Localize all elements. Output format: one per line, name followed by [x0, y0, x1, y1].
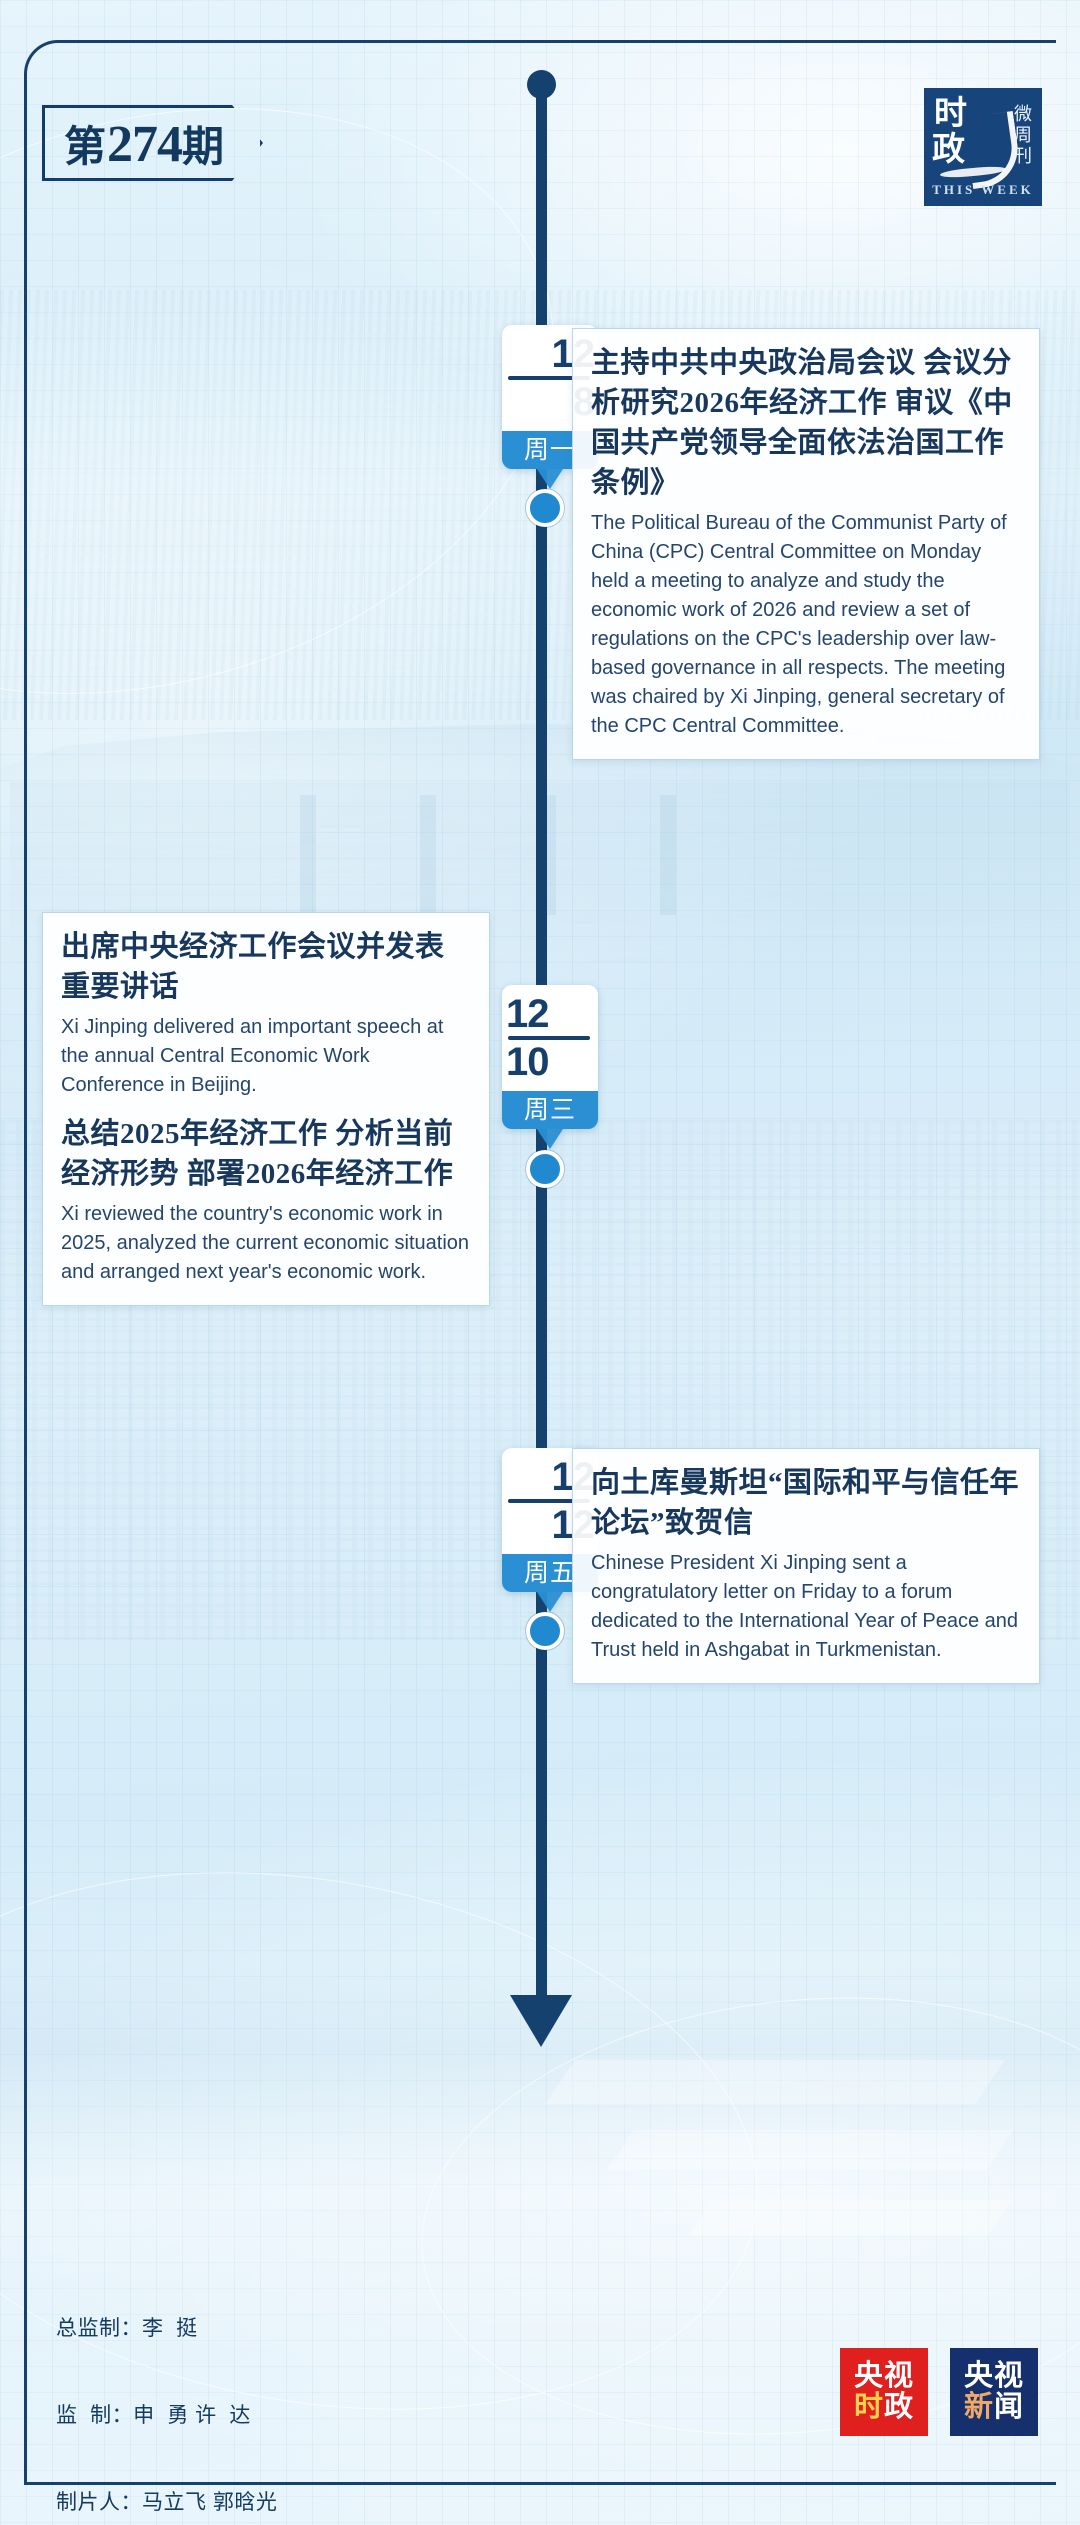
event-card-2-headline-cn-b: 总结2025年经济工作 分析当前经济形势 部署2026年经济工作	[61, 1114, 471, 1194]
date-badge-2-day: 10	[502, 1041, 598, 1083]
date-badge-2-numbers: 12 10	[502, 985, 598, 1091]
cctv-shizheng-line2: 时 政	[854, 2392, 914, 2423]
issue-prefix: 第	[64, 125, 107, 171]
date-badge-1-tail	[537, 469, 563, 489]
event-card-2-body-en-b: Xi reviewed the country's economic work …	[61, 1200, 471, 1287]
event-card-2-headline-cn-a: 出席中央经济工作会议并发表重要讲话	[61, 927, 471, 1007]
bottom-logo-group: 央视 时 政 央视 新 闻	[840, 2348, 1038, 2436]
event-card-1[interactable]: 主持中共中央政治局会议 会议分析研究2026年经济工作 审议《中国共产党领导全面…	[572, 328, 1040, 760]
event-card-2-body-en-a: Xi Jinping delivered an important speech…	[61, 1013, 471, 1100]
issue-badge: 第274期	[42, 105, 263, 181]
credit-line: 总监制：李 挺	[56, 2314, 391, 2343]
timeline-arrow-icon	[510, 1995, 572, 2047]
date-badge-2-weekday: 周三	[502, 1091, 598, 1129]
brand-logo: 时 政 微 周 刊 THIS WEEK	[924, 88, 1042, 206]
credit-line: 监 制：申 勇 许 达	[56, 2401, 391, 2430]
event-card-1-body-en: The Political Bureau of the Communist Pa…	[591, 509, 1021, 741]
credit-line: 制片人：马立飞 郭晗光	[56, 2488, 391, 2517]
timeline-dot-1	[526, 489, 564, 527]
event-card-3-headline-cn: 向土库曼斯坦“国际和平与信任年论坛”致贺信	[591, 1463, 1021, 1543]
brand-logo-english: THIS WEEK	[924, 182, 1042, 198]
cctv-shizheng-char-b: 政	[884, 2392, 914, 2423]
decorative-diagonal	[688, 2200, 1012, 2236]
cctv-shizheng-logo[interactable]: 央视 时 政	[840, 2348, 928, 2436]
temple-column	[660, 795, 676, 915]
cctv-shizheng-char-a: 时	[854, 2392, 884, 2423]
event-card-1-headline-cn: 主持中共中央政治局会议 会议分析研究2026年经济工作 审议《中国共产党领导全面…	[591, 343, 1021, 503]
cctv-xinwen-line2: 新 闻	[964, 2392, 1024, 2423]
date-badge-2-month: 12	[502, 995, 598, 1033]
cctv-shizheng-line1: 央视	[854, 2361, 914, 2392]
issue-badge-label: 第274期	[64, 113, 225, 174]
event-card-3-body-en: Chinese President Xi Jinping sent a cong…	[591, 1549, 1021, 1665]
date-badge-3-tail	[537, 1592, 563, 1612]
temple-column	[420, 795, 436, 915]
timeline-dot-2	[526, 1150, 564, 1188]
brand-vertical-char-2: 周	[1013, 125, 1033, 146]
poster-canvas: 第274期 时 政 微 周 刊 THIS WEEK 12 8 周一 主持中共中央…	[0, 0, 1080, 2525]
temple-column	[300, 795, 316, 915]
brand-logo-vertical-text: 微 周 刊	[1013, 104, 1033, 167]
cctv-xinwen-char-b: 闻	[994, 2392, 1024, 2423]
decorative-diagonal	[545, 2060, 1005, 2104]
timeline-dot-3	[526, 1612, 564, 1650]
cctv-xinwen-logo[interactable]: 央视 新 闻	[950, 2348, 1038, 2436]
date-badge-2[interactable]: 12 10 周三	[502, 985, 598, 1149]
event-card-2[interactable]: 出席中央经济工作会议并发表重要讲话 Xi Jinping delivered a…	[42, 912, 490, 1306]
decorative-diagonal	[607, 2130, 1014, 2170]
credits-block: 总监制：李 挺 监 制：申 勇 许 达 制片人：马立飞 郭晗光 编 导：朱 超 …	[56, 2256, 391, 2525]
cctv-xinwen-line1: 央视	[964, 2361, 1024, 2392]
event-card-3[interactable]: 向土库曼斯坦“国际和平与信任年论坛”致贺信 Chinese President …	[572, 1448, 1040, 1684]
brand-vertical-char-1: 微	[1013, 104, 1033, 125]
issue-number: 274	[107, 116, 182, 173]
brand-vertical-char-3: 刊	[1013, 146, 1033, 167]
date-badge-2-tail	[537, 1129, 563, 1149]
issue-suffix: 期	[182, 125, 225, 171]
cctv-xinwen-char-a: 新	[964, 2392, 994, 2423]
